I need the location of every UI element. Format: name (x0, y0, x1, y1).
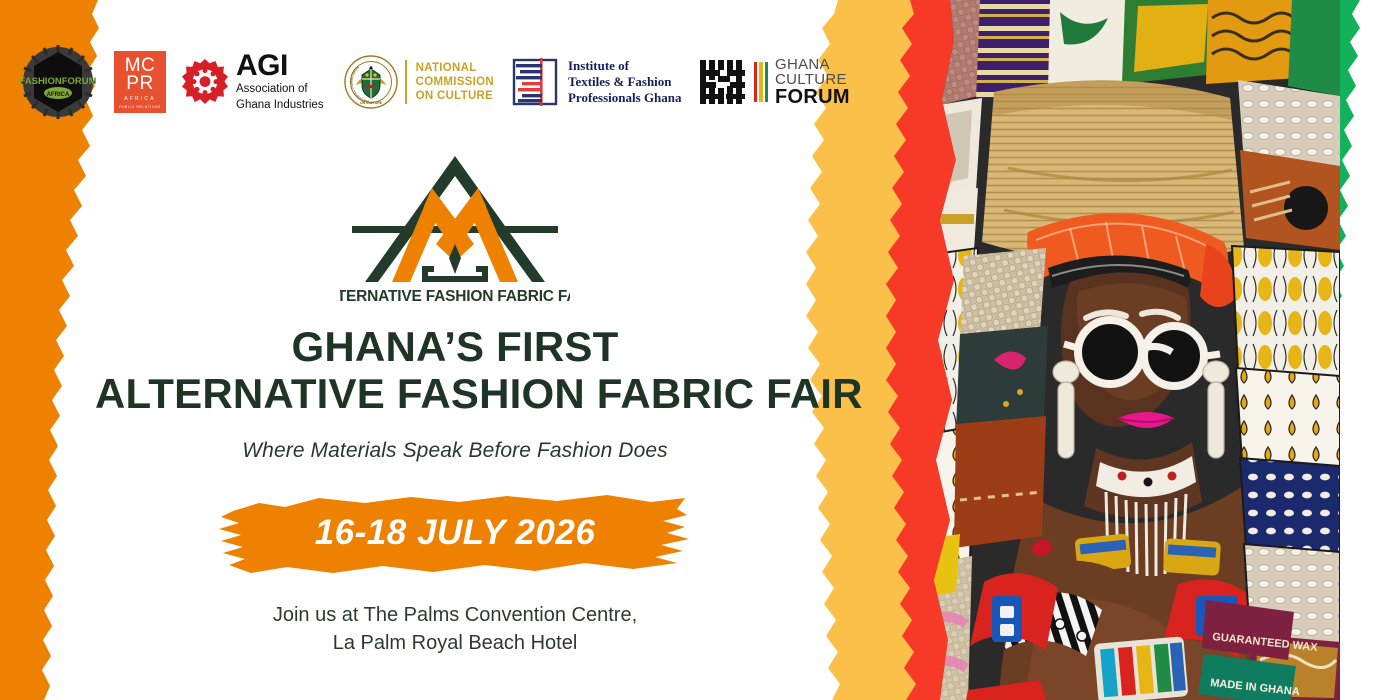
venue-info: Join us at The Palms Convention Centre, … (95, 601, 815, 658)
svg-text:ON CULTURE: ON CULTURE (360, 101, 383, 105)
date-banner: 16-18 JULY 2026 (215, 489, 695, 579)
afff-wordmark: ALTERNATIVE FASHION FABRIC FAIR (340, 288, 570, 305)
agi-gear-icon (182, 59, 228, 105)
ncc-seal-icon: NATIONAL COMMISSION ON CULTURE (344, 55, 398, 109)
itf-line2: Textiles & Fashion (568, 74, 682, 90)
logo-mcpr-africa[interactable]: MC PR AFRICA PUBLIC RELATIONS (114, 51, 166, 113)
afff-logo-mark: ALTERNATIVE FASHION FABRIC FAIR (340, 140, 570, 305)
agi-line2: Ghana Industries (236, 99, 324, 113)
logo-fashion-forum-africa[interactable]: FASHIONFORUM AFRICA (20, 44, 96, 120)
ff-badge-line1: FASHIONFORUM (20, 76, 96, 87)
mcpr-line2: PR (126, 75, 153, 93)
afff-event-logo: ALTERNATIVE FASHION FABRIC FAIR (340, 140, 570, 305)
mcpr-line4: PUBLIC RELATIONS (119, 105, 161, 109)
gcf-line2: CULTURE (775, 72, 850, 87)
date-text: 16-18 JULY 2026 (215, 489, 695, 579)
gcf-kente-weave-icon (700, 58, 748, 106)
itf-line1: Institute of (568, 58, 682, 74)
venue-line1: Join us at The Palms Convention Centre, (95, 601, 815, 629)
promotional-banner: GUARANTEED WAX MADE IN GHANA PHOTO BY FE… (0, 0, 1400, 700)
hero-photo: GUARANTEED WAX MADE IN GHANA (920, 0, 1340, 700)
right-photo-zone: GUARANTEED WAX MADE IN GHANA PHOTO BY FE… (780, 0, 1400, 700)
fashion-forum-badge-icon: FASHIONFORUM AFRICA (20, 44, 96, 120)
gcf-line1: GHANA (775, 57, 850, 72)
page-title: GHANA’S FIRST ALTERNATIVE FASHION FABRIC… (95, 323, 815, 417)
itf-line3: Professionals Ghana (568, 90, 682, 106)
logo-national-commission-on-culture[interactable]: NATIONAL COMMISSION ON CULTURE NATIONAL (344, 55, 494, 109)
ncc-divider (405, 60, 407, 104)
gcf-flag-stripes (754, 62, 769, 102)
textile-collage-illustration: GUARANTEED WAX MADE IN GHANA (920, 0, 1340, 700)
agi-abbrev: AGI (236, 51, 324, 81)
logo-institute-textiles-fashion[interactable]: Institute of Textiles & Fashion Professi… (512, 56, 682, 108)
venue-line2: La Palm Royal Beach Hotel (95, 629, 815, 657)
tagline: Where Materials Speak Before Fashion Doe… (95, 439, 815, 463)
ncc-line1: NATIONAL (416, 61, 494, 75)
ncc-line3: ON CULTURE (416, 89, 494, 103)
main-content: ALTERNATIVE FASHION FABRIC FAIR GHANA’S … (95, 140, 815, 658)
ncc-line2: COMMISSION (416, 75, 494, 89)
agi-line1: Association of (236, 83, 324, 97)
logo-ghana-culture-forum[interactable]: GHANA CULTURE FORUM (700, 57, 850, 108)
headline-line1: GHANA’S FIRST (95, 323, 815, 370)
mcpr-line3: AFRICA (124, 96, 156, 102)
svg-text:AFRICA: AFRICA (47, 92, 70, 98)
gcf-line3: FORUM (775, 87, 850, 107)
headline-line2: ALTERNATIVE FASHION FABRIC FAIR (95, 370, 815, 417)
itf-emblem-icon (512, 56, 560, 108)
partner-logo-row: FASHIONFORUM AFRICA MC PR AFRICA PUBLIC … (20, 42, 850, 122)
logo-agi[interactable]: AGI Association of Ghana Industries (182, 51, 324, 112)
